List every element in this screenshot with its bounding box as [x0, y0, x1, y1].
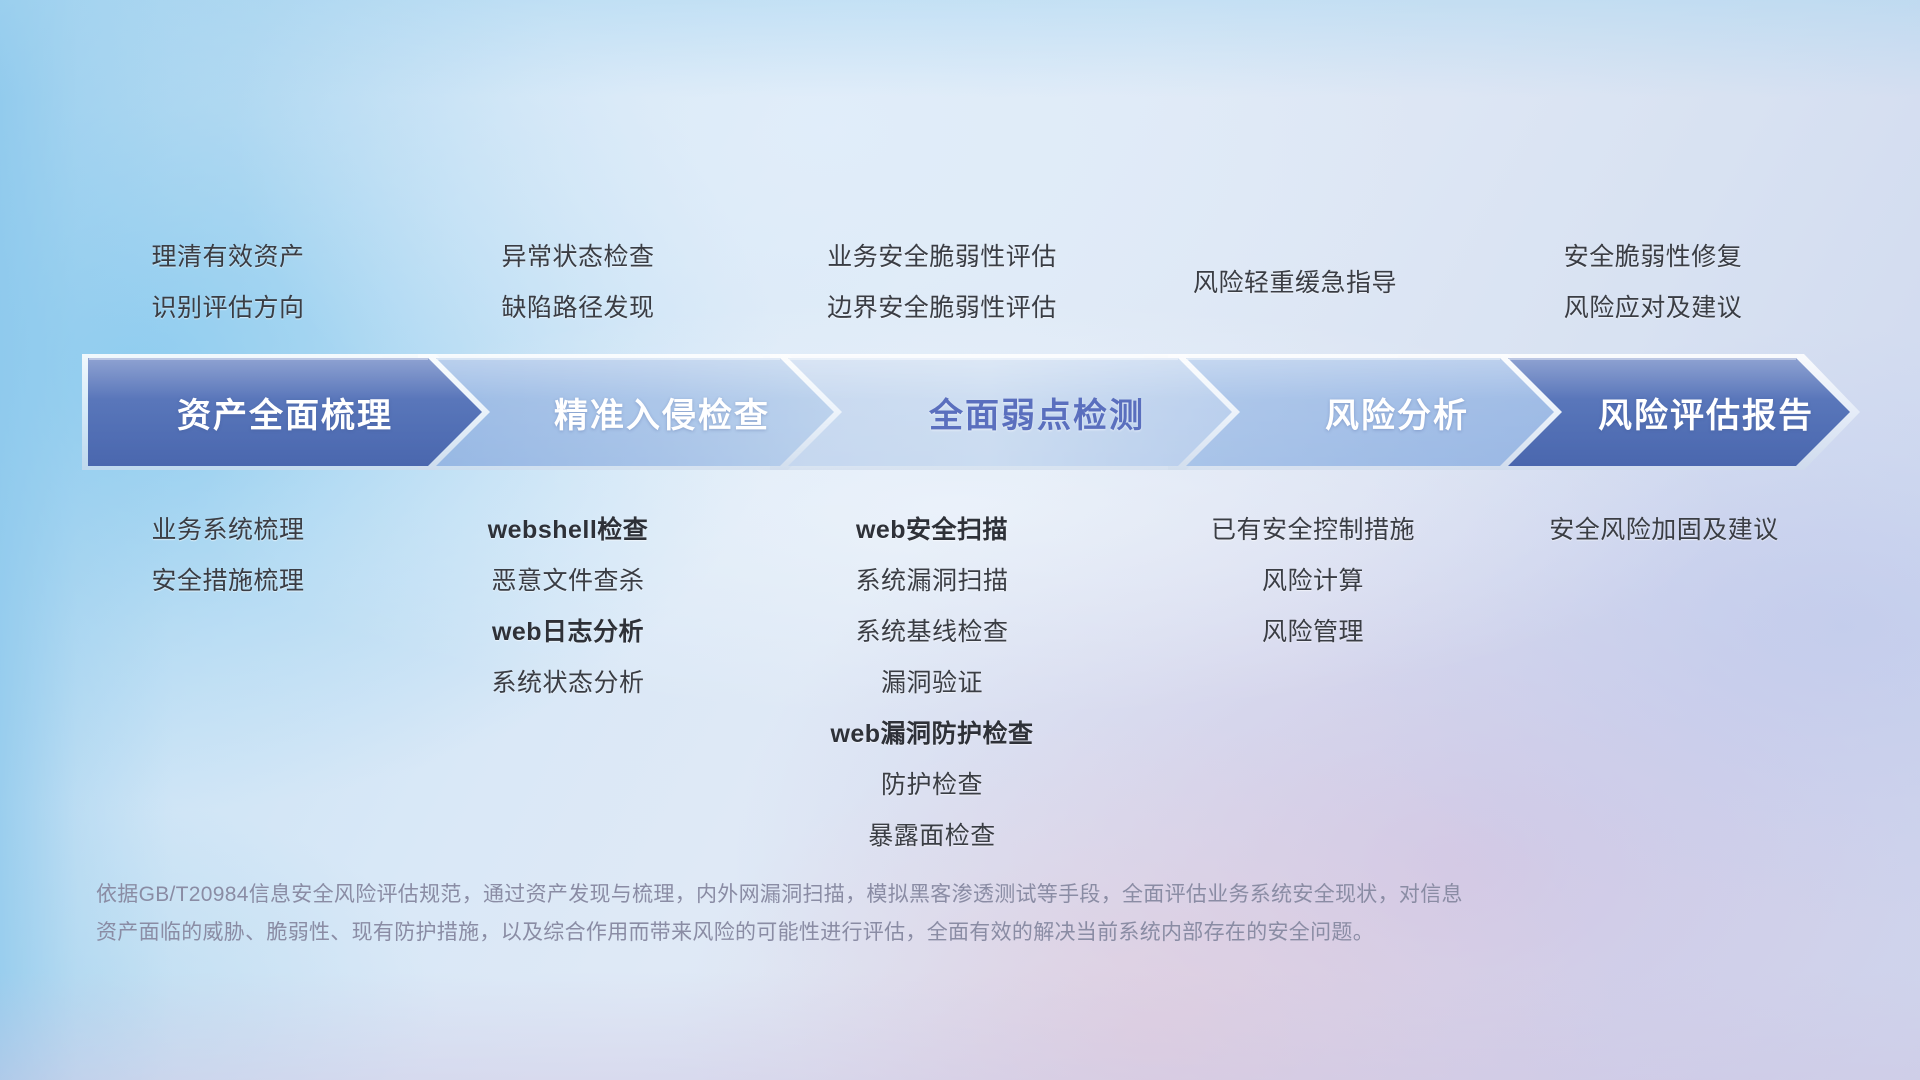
caption-line: web日志分析	[488, 607, 649, 658]
caption-line: 安全风险加固及建议	[1549, 505, 1779, 556]
process-chevron-banner: 资产全面梳理 精准入侵检查 全面弱点检测 风险分析 风险评估报告	[88, 358, 1850, 466]
caption-line: 异常状态检查	[501, 232, 654, 283]
caption-line: 防护检查	[830, 760, 1033, 811]
caption-line: 缺陷路径发现	[501, 283, 654, 334]
stage-bottom-captions-risk-report: 安全风险加固及建议	[1549, 505, 1779, 556]
stage-top-captions-risk-report: 安全脆弱性修复 风险应对及建议	[1564, 232, 1743, 334]
stage-top-captions-risk-analysis: 风险轻重缓急指导	[1193, 258, 1397, 309]
stage-bottom-captions-risk-analysis: 已有安全控制措施 风险计算 风险管理	[1211, 505, 1415, 658]
caption-line: 已有安全控制措施	[1211, 505, 1415, 556]
caption-line: 风险应对及建议	[1564, 283, 1743, 334]
caption-line: 风险计算	[1211, 556, 1415, 607]
caption-line: 安全脆弱性修复	[1564, 232, 1743, 283]
caption-line: web安全扫描	[830, 505, 1033, 556]
caption-line: 风险轻重缓急指导	[1193, 258, 1397, 309]
caption-line: 暴露面检查	[830, 811, 1033, 862]
caption-line: 业务系统梳理	[151, 505, 304, 556]
caption-line: 漏洞验证	[830, 658, 1033, 709]
footer-description: 依据GB/T20984信息安全风险评估规范，通过资产发现与梳理，内外网漏洞扫描，…	[96, 876, 1656, 952]
caption-line: 系统基线检查	[830, 607, 1033, 658]
caption-line: 风险管理	[1211, 607, 1415, 658]
caption-line: 识别评估方向	[151, 283, 304, 334]
stage-bottom-captions-intrusion-check: webshell检查 恶意文件查杀 web日志分析 系统状态分析	[488, 505, 649, 709]
caption-line: 系统漏洞扫描	[830, 556, 1033, 607]
caption-line: webshell检查	[488, 505, 649, 556]
stage-top-captions-asset-inventory: 理清有效资产 识别评估方向	[151, 232, 304, 334]
stage-bottom-captions-weakness-detection: web安全扫描 系统漏洞扫描 系统基线检查 漏洞验证 web漏洞防护检查 防护检…	[830, 505, 1033, 862]
stage-top-captions-weakness-detection: 业务安全脆弱性评估 边界安全脆弱性评估	[827, 232, 1057, 334]
footer-line-2: 资产面临的威胁、脆弱性、现有防护措施，以及综合作用而带来风险的可能性进行评估，全…	[96, 914, 1656, 952]
caption-line: 恶意文件查杀	[488, 556, 649, 607]
caption-line: 安全措施梳理	[151, 556, 304, 607]
caption-line: 业务安全脆弱性评估	[827, 232, 1057, 283]
caption-line: 系统状态分析	[488, 658, 649, 709]
stage-top-captions-intrusion-check: 异常状态检查 缺陷路径发现	[501, 232, 654, 334]
caption-line: 边界安全脆弱性评估	[827, 283, 1057, 334]
caption-line: 理清有效资产	[151, 232, 304, 283]
stage-bottom-captions-asset-inventory: 业务系统梳理 安全措施梳理	[151, 505, 304, 607]
caption-line: web漏洞防护检查	[830, 709, 1033, 760]
footer-line-1: 依据GB/T20984信息安全风险评估规范，通过资产发现与梳理，内外网漏洞扫描，…	[96, 876, 1656, 914]
